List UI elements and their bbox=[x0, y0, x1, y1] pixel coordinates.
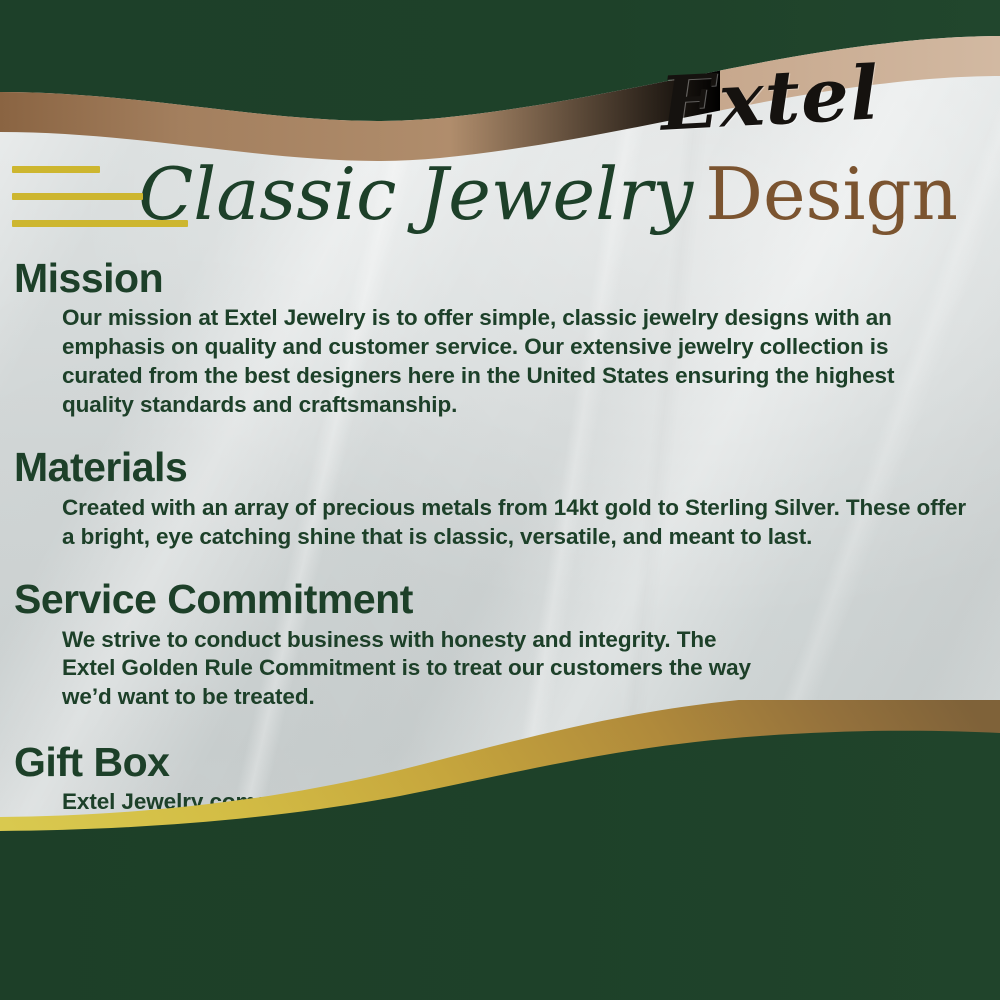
section-body-mission: Our mission at Extel Jewelry is to offer… bbox=[62, 304, 972, 419]
section-service-commitment: Service Commitment We strive to conduct … bbox=[0, 577, 1000, 712]
gold-line-2 bbox=[12, 193, 143, 200]
section-title-mission: Mission bbox=[14, 256, 1000, 300]
section-body-service-commitment: We strive to conduct business with hones… bbox=[62, 626, 762, 712]
headline-secondary: Design bbox=[705, 152, 958, 236]
left-gold-lines bbox=[12, 166, 188, 247]
section-title-service-commitment: Service Commitment bbox=[14, 577, 1000, 621]
gold-line-3 bbox=[12, 220, 188, 227]
gold-line-1 bbox=[12, 166, 100, 173]
brand-logo: Extel bbox=[600, 47, 941, 150]
poster-canvas: Extel Classic JewelryDesign Mission Our … bbox=[0, 0, 1000, 1000]
headline-primary: Classic Jewelry bbox=[138, 152, 693, 236]
section-materials: Materials Created with an array of preci… bbox=[0, 445, 1000, 551]
bottom-wave-decoration bbox=[0, 700, 1000, 1000]
section-body-materials: Created with an array of precious metals… bbox=[62, 494, 972, 552]
section-mission: Mission Our mission at Extel Jewelry is … bbox=[0, 256, 1000, 419]
section-title-materials: Materials bbox=[14, 445, 1000, 489]
